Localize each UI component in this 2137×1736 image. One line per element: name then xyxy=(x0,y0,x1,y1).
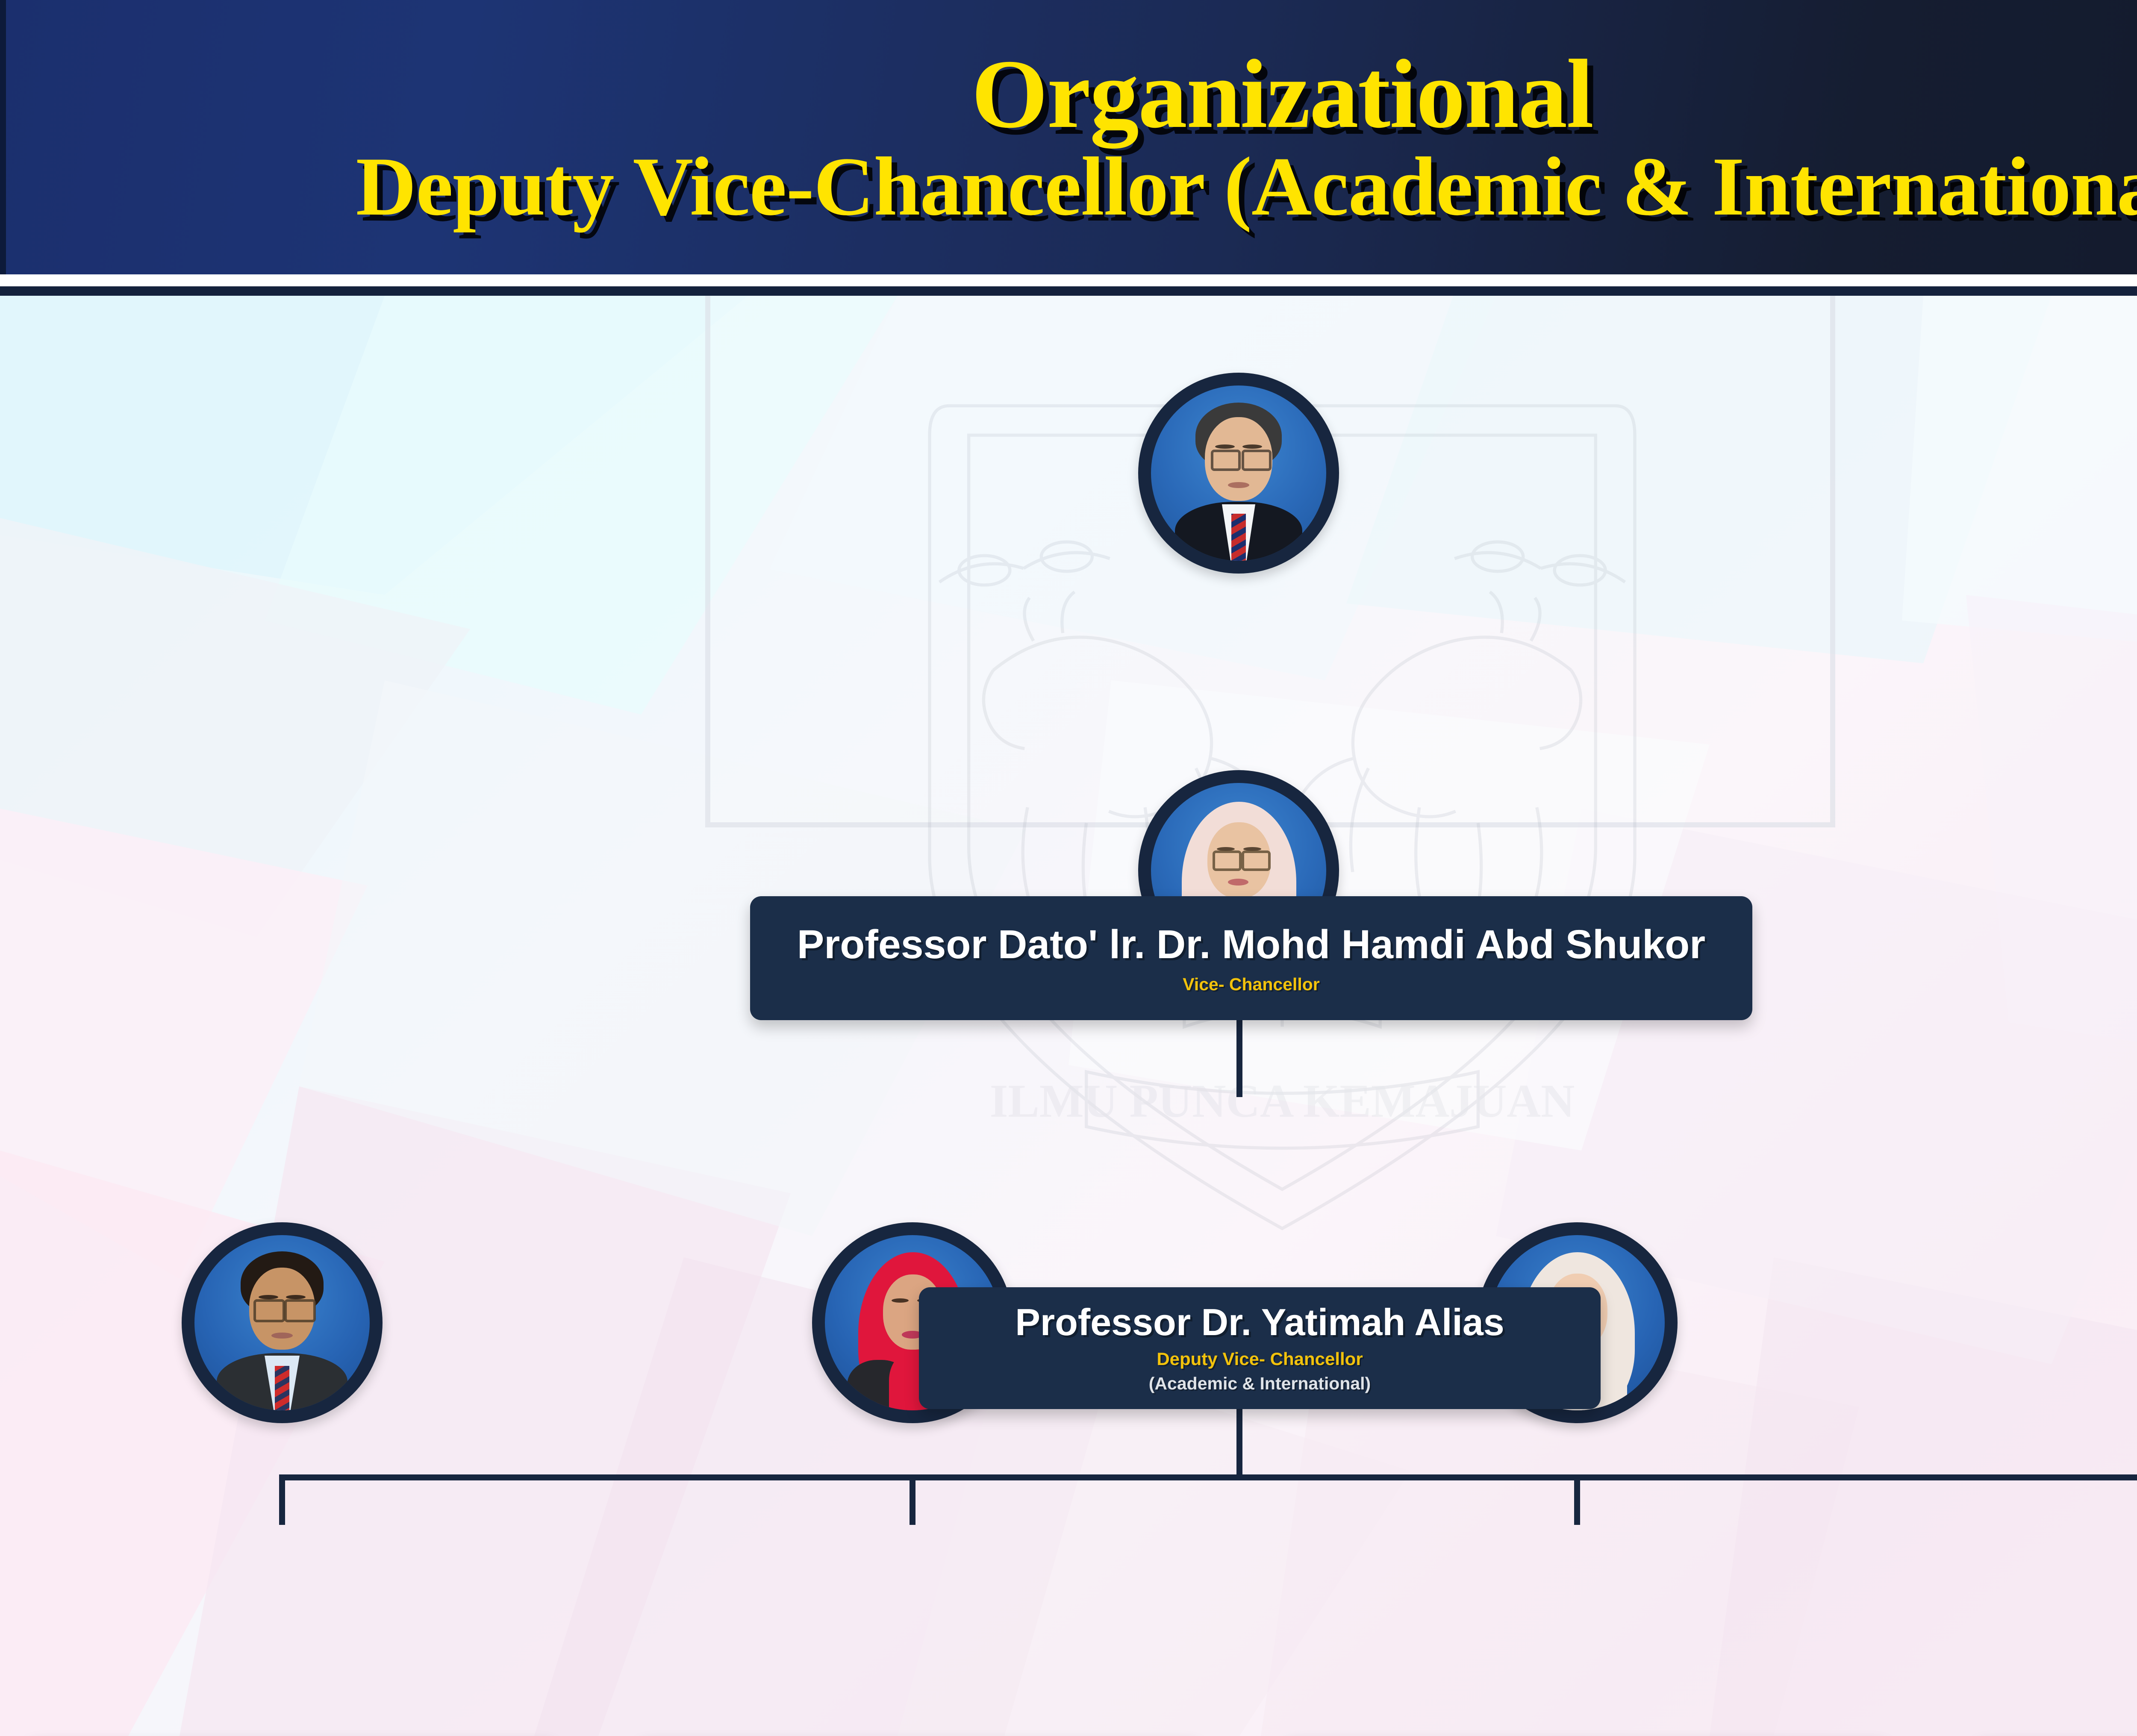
poster-header: Organizational Deputy Vice-Chancellor (A… xyxy=(0,0,2137,282)
connector-drop-1 xyxy=(910,1474,915,1525)
svg-text:ILMU PUNCA KEMAJUAN: ILMU PUNCA KEMAJUAN xyxy=(990,1075,1575,1127)
dvc-name: Professor Dr. Yatimah Alias xyxy=(1015,1301,1504,1344)
header-white-stripe xyxy=(0,274,2137,282)
dvc-role: Deputy Vice- Chancellor xyxy=(1157,1349,1363,1369)
avatar-director-0 xyxy=(182,1222,383,1423)
chart-canvas: ILMU PUNCA KEMAJUAN xyxy=(0,296,2137,1736)
vc-role: Vice- Chancellor xyxy=(1183,974,1320,995)
card-deputy-vice-chancellor[interactable]: Professor Dr. Yatimah Alias Deputy Vice-… xyxy=(919,1287,1601,1409)
page-title-line2: Deputy Vice-Chancellor (Academic & Inter… xyxy=(356,145,2137,229)
card-vice-chancellor[interactable]: Professor Dato' lr. Dr. Mohd Hamdi Abd S… xyxy=(750,896,1752,1020)
header-bottom-border xyxy=(0,286,2137,296)
connector-vc-to-dvc xyxy=(1236,1020,1242,1097)
poster-root: Organizational Deputy Vice-Chancellor (A… xyxy=(0,0,2137,1736)
avatar-vice-chancellor xyxy=(1138,373,1339,574)
dvc-department: (Academic & International) xyxy=(1149,1373,1371,1395)
connector-dvc-trunk xyxy=(1236,1409,1242,1477)
vc-name: Professor Dato' lr. Dr. Mohd Hamdi Abd S… xyxy=(797,922,1705,967)
header-title-block: Organizational Deputy Vice-Chancellor (A… xyxy=(0,0,2137,274)
page-title-line1: Organizational xyxy=(971,45,1593,143)
connector-drop-0 xyxy=(279,1474,285,1525)
connector-drop-2 xyxy=(1574,1474,1580,1525)
connector-horizontal-bus xyxy=(279,1474,2137,1480)
